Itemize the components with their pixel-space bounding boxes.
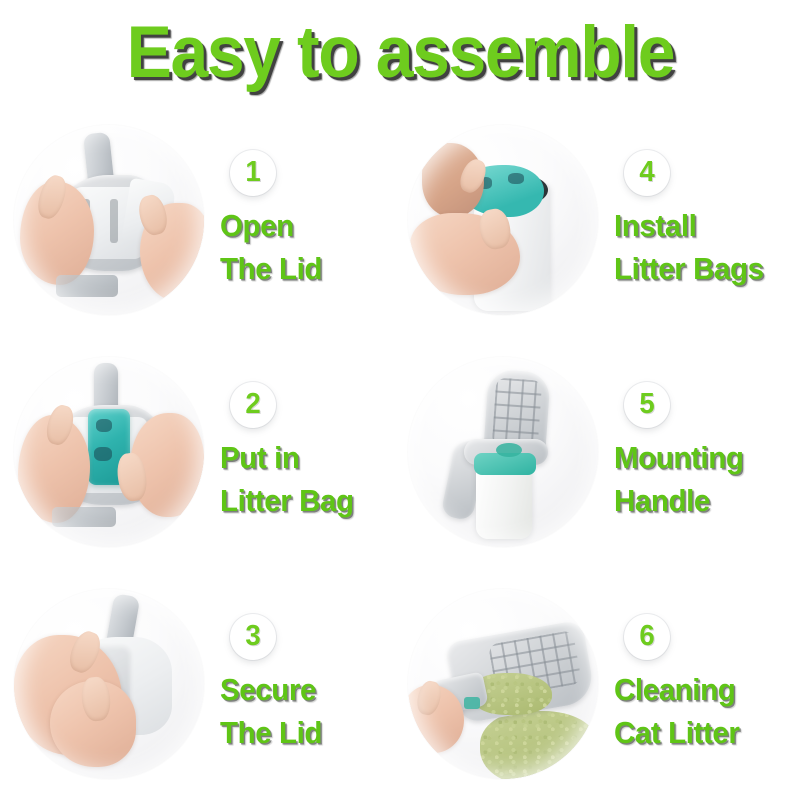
bag-inner-art (496, 443, 522, 457)
step-text-3: 3 Secure The Lid (204, 614, 327, 755)
step-label-line2-1: The Lid (220, 248, 322, 291)
step-text-2: 2 Put in Litter Bag (204, 382, 361, 523)
step-item-3: 3 Secure The Lid (0, 568, 400, 800)
infographic-page: Easy to assemble 1 Open (0, 0, 800, 800)
step-label-line1-5: Mounting (614, 437, 743, 480)
step-text-5: 5 Mounting Handle (598, 382, 750, 523)
page-title: Easy to assemble (126, 16, 674, 89)
step-label-line2-6: Cat Litter (614, 712, 739, 755)
step-number-2: 2 (245, 390, 260, 419)
step-item-1: 1 Open The Lid (0, 104, 400, 336)
step-number-badge-4: 4 (624, 150, 670, 196)
header: Easy to assemble (0, 0, 800, 100)
step-number-5: 5 (639, 390, 654, 419)
scoop-base-art (56, 275, 118, 297)
step-label-line2-3: The Lid (220, 712, 322, 755)
scoop-mesh-art (492, 377, 543, 448)
step-text-4: 4 Install Litter Bags (598, 150, 772, 291)
litter-bed-art (480, 711, 596, 779)
step-number-badge-6: 6 (624, 614, 670, 660)
step-number-4: 4 (639, 158, 654, 187)
step-item-4: 4 Install Litter Bags (400, 104, 800, 336)
step-text-6: 6 Cleaning Cat Litter (598, 614, 746, 755)
step-photo-4 (408, 125, 598, 315)
step-photo-3 (14, 589, 204, 779)
step-photo-2 (14, 357, 204, 547)
step-label-line1-6: Cleaning (614, 669, 735, 712)
bag-print-art (96, 419, 112, 432)
step-text-1: 1 Open The Lid (204, 150, 327, 291)
step-number-1: 1 (245, 158, 260, 187)
step-label-line2-5: Handle (614, 480, 710, 523)
step-number-badge-2: 2 (230, 382, 276, 428)
bag-print-art (94, 447, 112, 461)
step-item-2: 2 Put in Litter Bag (0, 336, 400, 568)
scoop-base-art (52, 507, 116, 527)
step-label-line2-4: Litter Bags (614, 248, 764, 291)
teal-bag-tab-art (464, 697, 480, 709)
step-item-5: 5 Mounting Handle (400, 336, 800, 568)
step-label-line1-4: Install (614, 205, 696, 248)
step-number-badge-5: 5 (624, 382, 670, 428)
step-number-badge-1: 1 (230, 150, 276, 196)
step-label-line1-2: Put in (220, 437, 300, 480)
step-label-line2-2: Litter Bag (220, 480, 354, 523)
step-item-6: 6 Cleaning Cat Litter (400, 568, 800, 800)
step-photo-1 (14, 125, 204, 315)
step-number-3: 3 (245, 622, 260, 651)
bag-print-art (508, 173, 524, 184)
steps-grid: 1 Open The Lid 4 (0, 104, 800, 800)
step-photo-6 (408, 589, 598, 779)
step-label-line1-3: Secure (220, 669, 316, 712)
step-number-badge-3: 3 (230, 614, 276, 660)
lid-slot-art (110, 199, 118, 243)
step-photo-5 (408, 357, 598, 547)
step-label-line1-1: Open (220, 205, 294, 248)
step-number-6: 6 (639, 622, 654, 651)
